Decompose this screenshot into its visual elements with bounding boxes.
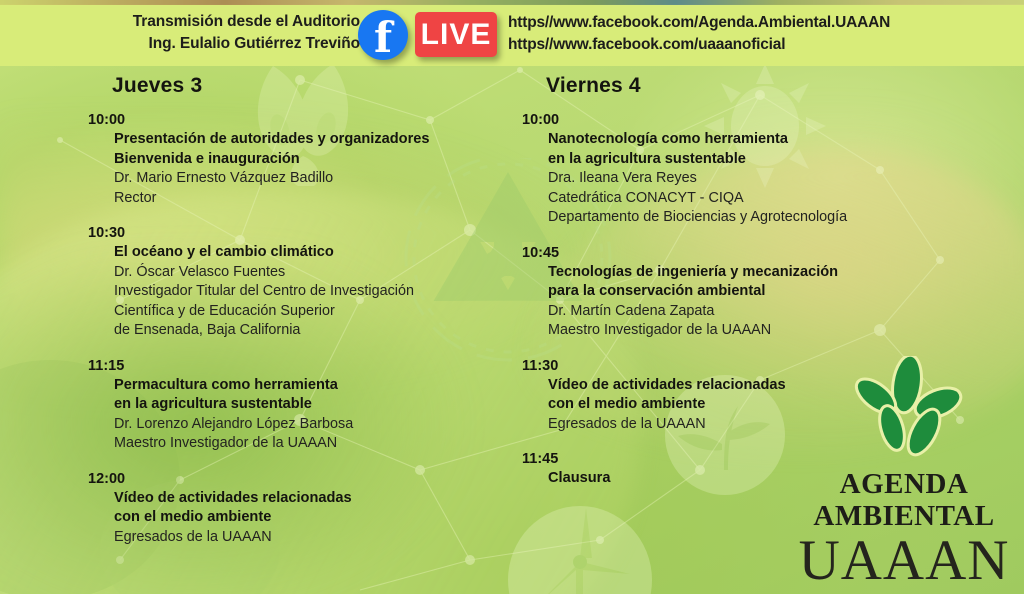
facebook-f-glyph: f bbox=[358, 16, 408, 60]
slot-time: 10:45 bbox=[522, 245, 942, 261]
slot-sub-line: Dr. Óscar Velasco Fuentes bbox=[114, 263, 508, 283]
broadcast-line-2: Ing. Eulalio Gutiérrez Treviño bbox=[60, 33, 360, 55]
broadcast-header-band: Transmisión desde el Auditorio Ing. Eula… bbox=[0, 4, 1024, 66]
wind-turbine-icon bbox=[490, 500, 670, 594]
broadcast-line-1: Transmisión desde el Auditorio bbox=[60, 11, 360, 33]
live-label: LIVE bbox=[415, 12, 497, 57]
agenda-column-thursday: Jueves 3 10:00Presentación de autoridade… bbox=[88, 74, 508, 564]
slot-title-line: Tecnologías de ingeniería y mecanización bbox=[548, 263, 942, 283]
slot-sub-line: Dr. Mario Ernesto Vázquez Badillo bbox=[114, 169, 508, 189]
agenda-slot: 10:00Presentación de autoridades y organ… bbox=[88, 112, 508, 208]
facebook-url-agenda[interactable]: https//www.facebook.com/Agenda.Ambiental… bbox=[508, 12, 890, 34]
slot-title-line: Permacultura como herramienta bbox=[114, 376, 508, 396]
slot-sub-line: Dra. Ileana Vera Reyes bbox=[548, 169, 942, 189]
logo-text-agenda: AGENDA bbox=[794, 468, 1014, 500]
agenda-slot: 10:00Nanotecnología como herramientaen l… bbox=[522, 112, 942, 228]
slot-sub-line: Dr. Martín Cadena Zapata bbox=[548, 302, 942, 322]
slot-body: Vídeo de actividades relacionadascon el … bbox=[114, 489, 508, 548]
live-badge: LIVE bbox=[415, 12, 497, 57]
slot-time: 11:15 bbox=[88, 358, 508, 374]
leaf-flower-logo-icon bbox=[840, 356, 968, 462]
slot-body: Presentación de autoridades y organizado… bbox=[114, 130, 508, 208]
slot-sub-line: Dr. Lorenzo Alejandro López Barbosa bbox=[114, 415, 508, 435]
slot-sub-line: Catedrática CONACYT - CIQA bbox=[548, 189, 942, 209]
slot-time: 10:30 bbox=[88, 225, 508, 241]
slot-title-line: Vídeo de actividades relacionadas bbox=[114, 489, 508, 509]
slot-body: Nanotecnología como herramientaen la agr… bbox=[548, 130, 942, 228]
day-title-friday: Viernes 4 bbox=[546, 74, 942, 98]
slot-time: 12:00 bbox=[88, 471, 508, 487]
slot-body: Permacultura como herramientaen la agric… bbox=[114, 376, 508, 454]
facebook-icon[interactable]: f bbox=[358, 10, 408, 60]
agenda-ambiental-logo: AGENDA AMBIENTAL UAAAN bbox=[794, 356, 1014, 590]
agenda-slot: 11:15Permacultura como herramientaen la … bbox=[88, 358, 508, 454]
slot-title-line: Nanotecnología como herramienta bbox=[548, 130, 942, 150]
slot-sub-line: Investigador Titular del Centro de Inves… bbox=[114, 282, 508, 302]
poster-canvas: Transmisión desde el Auditorio Ing. Eula… bbox=[0, 0, 1024, 594]
slot-title-line: El océano y el cambio climático bbox=[114, 243, 508, 263]
agenda-slot: 10:45Tecnologías de ingeniería y mecaniz… bbox=[522, 245, 942, 341]
facebook-url-oficial[interactable]: https//www.facebook.com/uaaanoficial bbox=[508, 34, 890, 56]
agenda-slot: 12:00Vídeo de actividades relacionadasco… bbox=[88, 471, 508, 548]
slot-title-line: en la agricultura sustentable bbox=[114, 395, 508, 415]
slot-sub-line: Egresados de la UAAAN bbox=[114, 528, 508, 548]
slot-time: 10:00 bbox=[522, 112, 942, 128]
slot-sub-line: de Ensenada, Baja California bbox=[114, 321, 508, 341]
slot-body: Tecnologías de ingeniería y mecanización… bbox=[548, 263, 942, 341]
logo-text-ambiental: AMBIENTAL bbox=[794, 500, 1014, 532]
slot-title-line: para la conservación ambiental bbox=[548, 282, 942, 302]
slot-sub-line: Rector bbox=[114, 189, 508, 209]
slot-title-line: Presentación de autoridades y organizado… bbox=[114, 130, 508, 150]
facebook-urls: https//www.facebook.com/Agenda.Ambiental… bbox=[508, 12, 890, 56]
top-photo-sliver bbox=[0, 0, 1024, 5]
slot-time: 10:00 bbox=[88, 112, 508, 128]
slot-body: El océano y el cambio climáticoDr. Óscar… bbox=[114, 243, 508, 341]
slot-sub-line: Departamento de Biociencias y Agrotecnol… bbox=[548, 208, 942, 228]
day-title-thursday: Jueves 3 bbox=[112, 74, 508, 98]
broadcast-venue-text: Transmisión desde el Auditorio Ing. Eula… bbox=[60, 11, 360, 55]
logo-text-uaaan: UAAAN bbox=[794, 532, 1014, 590]
slot-sub-line: Científica y de Educación Superior bbox=[114, 302, 508, 322]
agenda-slot: 10:30El océano y el cambio climáticoDr. … bbox=[88, 225, 508, 341]
slot-sub-line: Maestro Investigador de la UAAAN bbox=[114, 434, 508, 454]
slot-list-thursday: 10:00Presentación de autoridades y organ… bbox=[88, 112, 508, 547]
slot-title-line: Bienvenida e inauguración bbox=[114, 150, 508, 170]
slot-title-line: con el medio ambiente bbox=[114, 508, 508, 528]
slot-title-line: en la agricultura sustentable bbox=[548, 150, 942, 170]
slot-sub-line: Maestro Investigador de la UAAAN bbox=[548, 321, 942, 341]
